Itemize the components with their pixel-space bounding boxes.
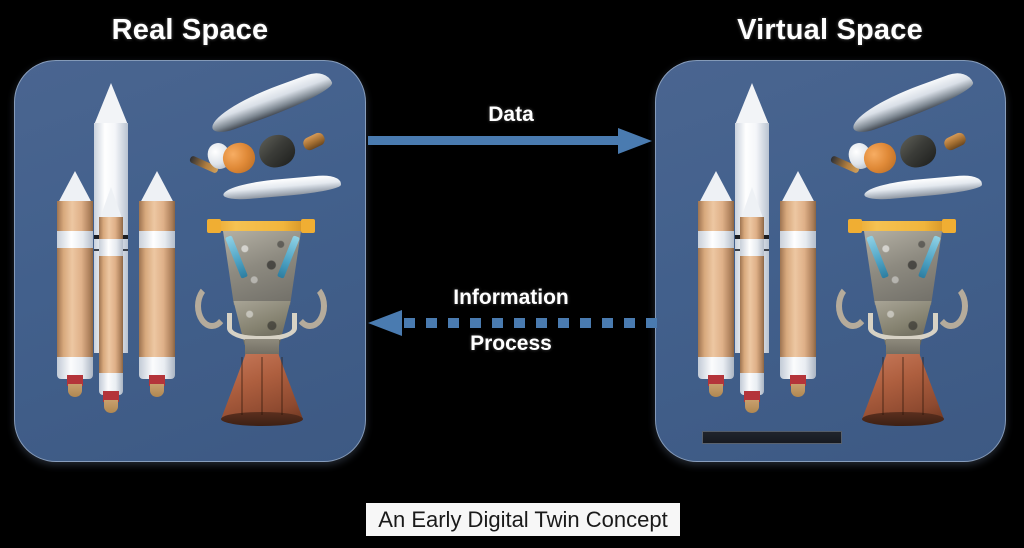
booster-nose-cap bbox=[99, 187, 123, 221]
engine-mount-bracket-right bbox=[301, 219, 315, 233]
booster-nose-cap bbox=[740, 187, 764, 221]
nozzle-rib bbox=[882, 357, 884, 415]
nozzle-rib bbox=[922, 357, 924, 415]
rocket-engine-icon bbox=[197, 221, 327, 426]
booster-ring bbox=[740, 239, 764, 256]
engine-mount-bracket-right bbox=[942, 219, 956, 233]
satellite-dish-antenna bbox=[255, 131, 298, 172]
engine-powerhead bbox=[864, 231, 942, 305]
rocket-booster-right bbox=[780, 171, 816, 383]
booster-tank bbox=[139, 201, 175, 357]
arrow-head-right-icon bbox=[618, 128, 652, 154]
satellite-module bbox=[942, 131, 967, 152]
satellite-solar-panel-lower bbox=[222, 174, 341, 201]
engine-powerhead bbox=[223, 231, 301, 305]
arrow-dashed-shaft bbox=[404, 318, 658, 328]
booster-nozzle bbox=[745, 400, 759, 413]
engine-gimbal-frame bbox=[868, 313, 938, 341]
booster-nose-cap bbox=[698, 171, 734, 205]
booster-nozzle bbox=[150, 384, 164, 397]
panel-virtual-space bbox=[655, 60, 1006, 462]
ground-platform-bar bbox=[702, 431, 842, 444]
panel-real-space bbox=[14, 60, 366, 462]
nozzle-rib bbox=[281, 357, 283, 415]
arrow-shaft bbox=[368, 136, 622, 145]
nozzle-rib bbox=[241, 357, 243, 415]
engine-mount-bar bbox=[850, 221, 956, 231]
data-flow-arrow bbox=[368, 128, 652, 154]
diagram-canvas: Real Space Virtual Space bbox=[0, 0, 1024, 548]
information-arrow-label: Information bbox=[366, 286, 656, 310]
rocket-booster-center bbox=[99, 187, 123, 399]
booster-ring bbox=[99, 239, 123, 256]
rocket-booster-left bbox=[57, 171, 93, 383]
booster-ring bbox=[698, 231, 734, 248]
satellite-dish-antenna bbox=[896, 131, 939, 172]
booster-tank bbox=[780, 201, 816, 357]
engine-gimbal-frame bbox=[227, 313, 297, 341]
data-arrow-label: Data bbox=[366, 103, 656, 127]
rocket-booster-center bbox=[740, 187, 764, 399]
booster-nose-cap bbox=[57, 171, 93, 205]
booster-nozzle bbox=[104, 400, 118, 413]
satellite-spacecraft-icon bbox=[834, 83, 994, 213]
rocket-booster-left bbox=[698, 171, 734, 383]
booster-nozzle bbox=[709, 384, 723, 397]
delta-iv-heavy-rocket-icon bbox=[43, 83, 191, 451]
satellite-solar-panel-upper bbox=[206, 68, 335, 136]
engine-feedline-right bbox=[934, 283, 968, 329]
satellite-spacecraft-icon bbox=[193, 83, 353, 213]
booster-tank bbox=[698, 201, 734, 357]
booster-nose-cap bbox=[139, 171, 175, 205]
booster-nozzle bbox=[791, 384, 805, 397]
delta-iv-heavy-rocket-icon bbox=[684, 83, 832, 451]
nozzle-rib bbox=[261, 357, 263, 415]
figure-caption: An Early Digital Twin Concept bbox=[366, 503, 680, 536]
engine-feedline-left bbox=[195, 283, 229, 329]
engine-mount-bracket-left bbox=[207, 219, 221, 233]
engine-feedline-right bbox=[293, 283, 327, 329]
engine-mount-bracket-left bbox=[848, 219, 862, 233]
process-arrow-label: Process bbox=[366, 332, 656, 356]
engine-mount-bar bbox=[209, 221, 315, 231]
booster-ring bbox=[57, 231, 93, 248]
satellite-module bbox=[301, 131, 326, 152]
booster-nose-cap bbox=[780, 171, 816, 205]
nozzle-rib bbox=[902, 357, 904, 415]
rocket-nose-cone bbox=[735, 83, 769, 125]
engine-feedline-left bbox=[836, 283, 870, 329]
rocket-nose-cone bbox=[94, 83, 128, 125]
rocket-engine-icon bbox=[838, 221, 968, 426]
booster-ring bbox=[780, 231, 816, 248]
panel-title-real-space: Real Space bbox=[14, 14, 366, 47]
booster-tank bbox=[57, 201, 93, 357]
satellite-solar-panel-lower bbox=[863, 174, 982, 201]
rocket-booster-right bbox=[139, 171, 175, 383]
booster-ring bbox=[139, 231, 175, 248]
booster-nozzle bbox=[68, 384, 82, 397]
panel-title-virtual-space: Virtual Space bbox=[655, 14, 1005, 47]
satellite-solar-panel-upper bbox=[847, 68, 976, 136]
